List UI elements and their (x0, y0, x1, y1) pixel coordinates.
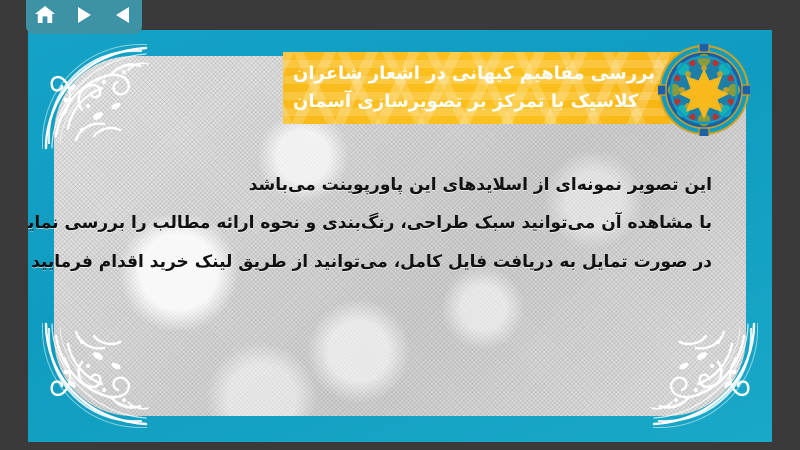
home-icon (34, 5, 56, 25)
body-line-3: در صورت تمایل به دریافت فایل کامل، می‌تو… (88, 243, 712, 281)
slide-canvas: بررسی مفاهیم کیهانی در اشعار شاعران کلاس… (28, 30, 772, 442)
banner-body: بررسی مفاهیم کیهانی در اشعار شاعران کلاس… (283, 52, 704, 124)
body-line-1: این تصویر نمونه‌ای از اسلایدهای این پاور… (88, 166, 712, 204)
triangle-right-icon (75, 5, 93, 25)
back-button[interactable] (108, 2, 138, 28)
title-line-1: بررسی مفاهیم کیهانی در اشعار شاعران (293, 60, 655, 88)
slide-viewer: بررسی مفاهیم کیهانی در اشعار شاعران کلاس… (0, 0, 800, 450)
slide-body-text: این تصویر نمونه‌ای از اسلایدهای این پاور… (88, 166, 712, 281)
triangle-left-icon (114, 5, 132, 25)
persian-star-medallion-icon (658, 44, 750, 136)
forward-button[interactable] (69, 2, 99, 28)
title-line-2: کلاسیک با تمرکز بر تصویرسازی آسمان (293, 88, 638, 116)
body-line-2: با مشاهده آن می‌توانید سبک طراحی، رنگ‌بن… (88, 204, 712, 242)
home-button[interactable] (30, 2, 60, 28)
navigation-bar (26, 0, 142, 34)
